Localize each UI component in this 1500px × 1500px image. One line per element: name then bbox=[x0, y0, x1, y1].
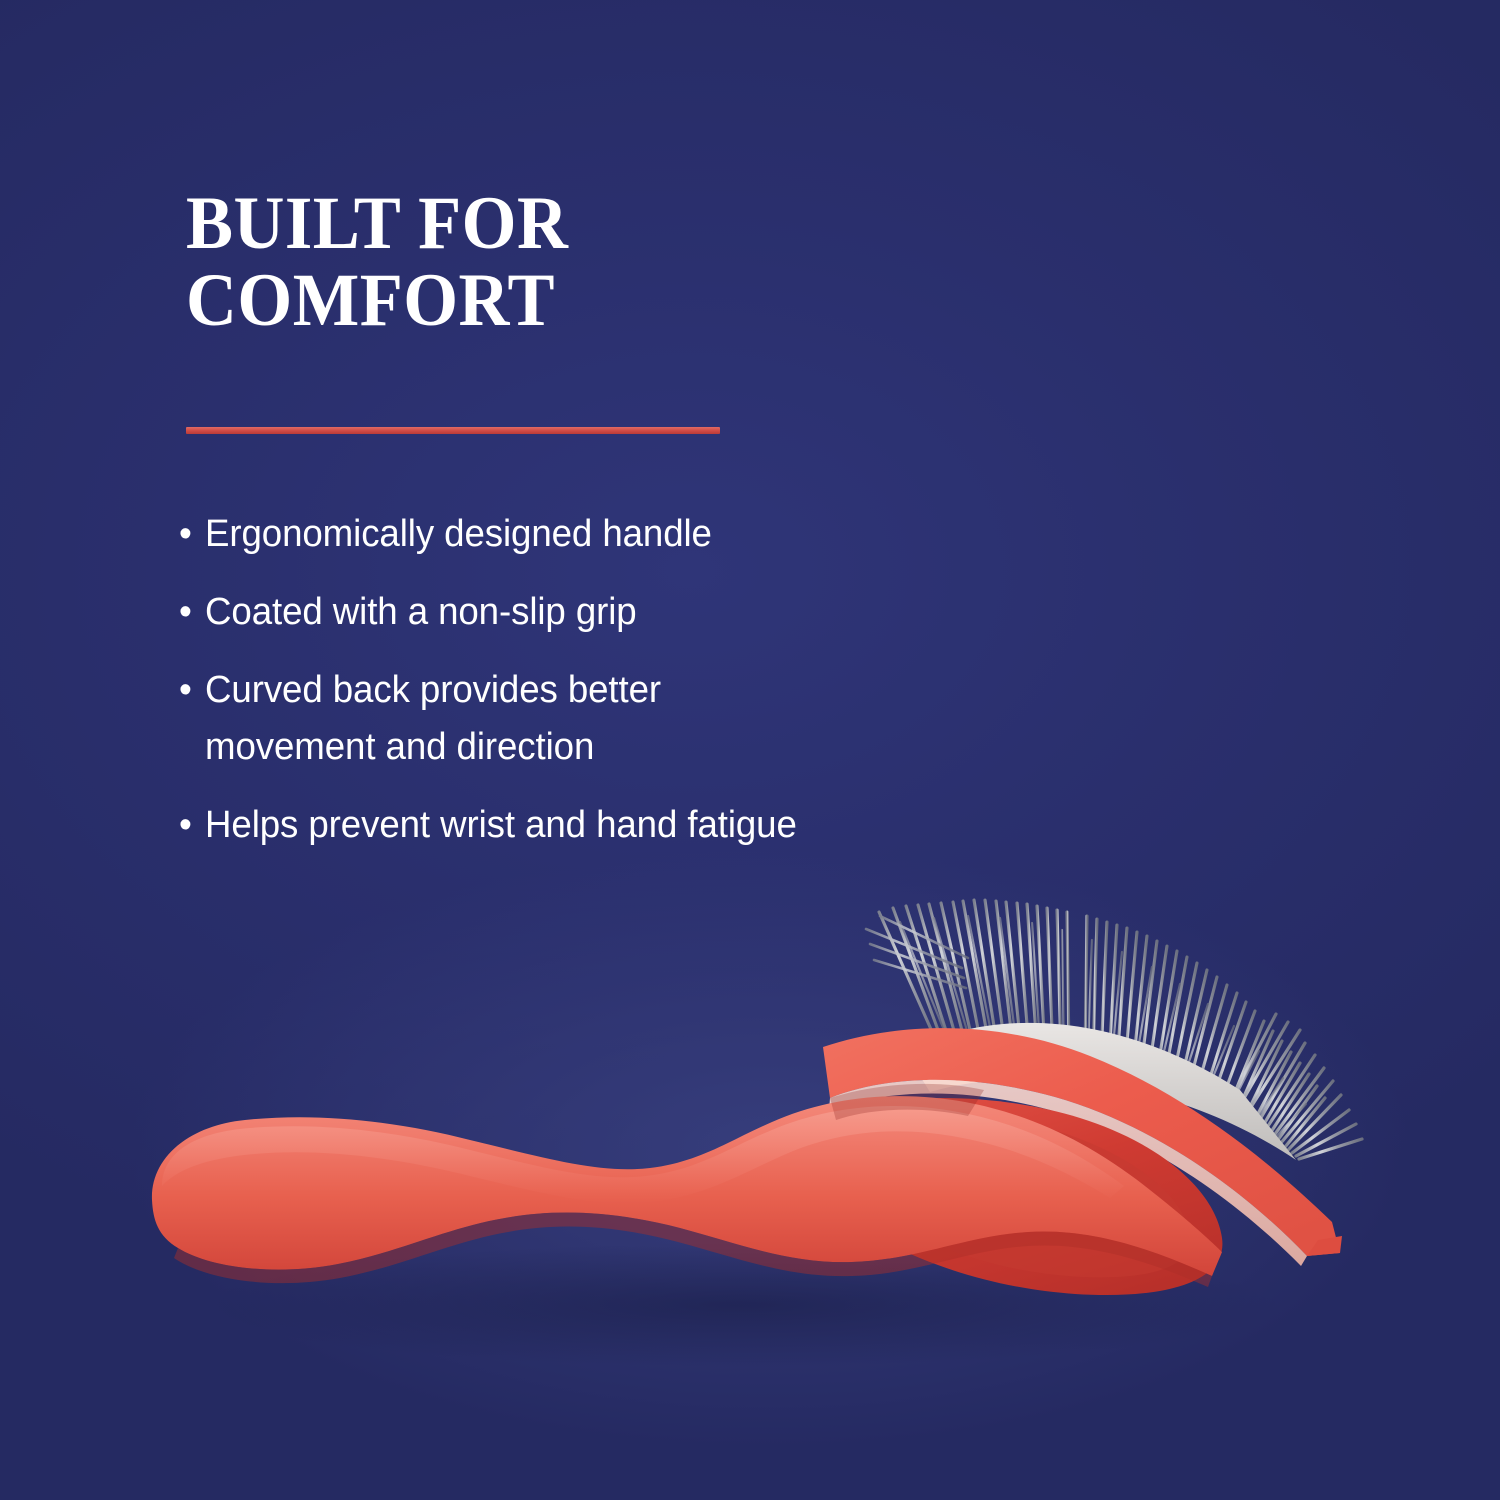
product-photo bbox=[0, 0, 1500, 1500]
brush-illustration bbox=[0, 0, 1500, 1500]
promo-image: BUILT FOR COMFORT • Ergonomically design… bbox=[0, 0, 1500, 1500]
